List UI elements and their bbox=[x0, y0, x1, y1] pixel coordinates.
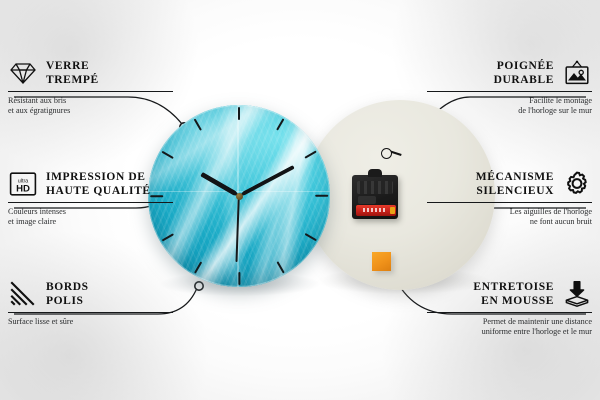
feature-header: ENTRETOISE EN MOUSSE bbox=[427, 279, 592, 309]
feature-poignee-durable: POIGNÉE DURABLE Facilite le montage de l… bbox=[427, 58, 592, 117]
feature-description-line1: Couleurs intenses bbox=[8, 207, 173, 218]
feature-divider bbox=[427, 202, 592, 203]
feature-description-line2: et aux égratignures bbox=[8, 106, 173, 117]
feature-header: VERRE TREMPÉ bbox=[8, 58, 173, 88]
hanging-frame-icon bbox=[562, 58, 592, 88]
feature-title: MÉCANISME SILENCIEUX bbox=[476, 170, 554, 198]
feature-description-line1: Les aiguilles de l'horloge bbox=[427, 207, 592, 218]
feature-mecanisme-silencieux: MÉCANISME SILENCIEUX Les aiguilles de l'… bbox=[427, 169, 592, 228]
feature-title: POIGNÉE DURABLE bbox=[494, 59, 554, 87]
battery-positive-tip bbox=[390, 207, 395, 214]
clock-movement bbox=[352, 175, 398, 219]
svg-text:HD: HD bbox=[16, 183, 30, 194]
feature-description-line1: Surface lisse et sûre bbox=[8, 317, 173, 328]
feature-divider bbox=[8, 312, 173, 313]
hanging-hole bbox=[381, 148, 392, 159]
clock-rim bbox=[148, 105, 330, 287]
feature-header: MÉCANISME SILENCIEUX bbox=[427, 169, 592, 199]
arrow-down-pad-icon bbox=[562, 279, 592, 309]
feature-header: BORDS POLIS bbox=[8, 279, 173, 309]
feature-entretoise-en-mousse: ENTRETOISE EN MOUSSE Permet de maintenir… bbox=[427, 279, 592, 338]
movement-tab bbox=[368, 169, 382, 177]
foam-spacer bbox=[372, 252, 391, 271]
feature-description-line2: de l'horloge sur le mur bbox=[427, 106, 592, 117]
feature-verre-trempe: VERRE TREMPÉ Résistant aux bris et aux é… bbox=[8, 58, 173, 117]
feature-description-line1: Facilite le montage bbox=[427, 96, 592, 107]
feature-description-line1: Résistant aux bris bbox=[8, 96, 173, 107]
product-feature-infographic: VERRE TREMPÉ Résistant aux bris et aux é… bbox=[0, 0, 600, 400]
feature-title: IMPRESSION DE HAUTE QUALITÉ bbox=[46, 170, 151, 198]
feature-divider bbox=[8, 202, 173, 203]
diagonal-lines-icon bbox=[8, 279, 38, 309]
feature-header: ultra HD IMPRESSION DE HAUTE QUALITÉ bbox=[8, 169, 173, 199]
feature-divider bbox=[427, 312, 592, 313]
gear-icon bbox=[562, 169, 592, 199]
battery bbox=[356, 205, 396, 216]
feature-impression-haute-qualite: ultra HD IMPRESSION DE HAUTE QUALITÉ Cou… bbox=[8, 169, 173, 228]
clock-face bbox=[148, 105, 330, 287]
feature-divider bbox=[427, 91, 592, 92]
feature-title: VERRE TREMPÉ bbox=[46, 59, 99, 87]
feature-description-line2: et image claire bbox=[8, 217, 173, 228]
feature-title: BORDS POLIS bbox=[46, 280, 89, 308]
feature-description-line1: Permet de maintenir une distance bbox=[427, 317, 592, 328]
feature-description-line2: uniforme entre l'horloge et le mur bbox=[427, 327, 592, 338]
ultra-hd-icon: ultra HD bbox=[8, 169, 38, 199]
feature-bords-polis: BORDS POLIS Surface lisse et sûre bbox=[8, 279, 173, 327]
feature-title: ENTRETOISE EN MOUSSE bbox=[473, 280, 554, 308]
movement-embossing bbox=[357, 181, 393, 194]
feature-divider bbox=[8, 91, 173, 92]
feature-header: POIGNÉE DURABLE bbox=[427, 58, 592, 88]
diamond-icon bbox=[8, 58, 38, 88]
feature-description-line2: ne font aucun bruit bbox=[427, 217, 592, 228]
movement-embossing-secondary bbox=[358, 196, 376, 204]
battery-label bbox=[363, 208, 385, 212]
